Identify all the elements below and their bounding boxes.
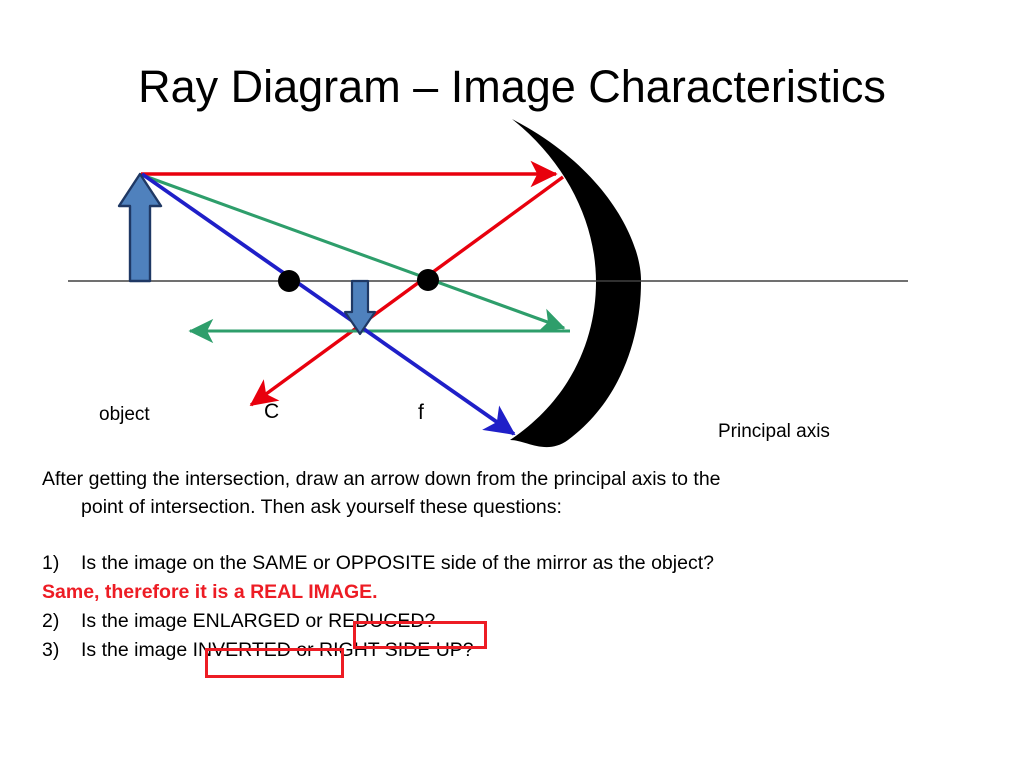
question-1-text: Is the image on the SAME or OPPOSITE sid… [81, 552, 714, 574]
page-title: Ray Diagram – Image Characteristics [0, 62, 1024, 112]
concave-mirror-shape [510, 119, 641, 447]
question-3: 3) Is the image INVERTED or RIGHT SIDE U… [42, 636, 942, 664]
ray-focal [142, 174, 514, 434]
intro-paragraph: After getting the intersection, draw an … [42, 466, 942, 521]
answer-real-image: Same, therefore it is a REAL IMAGE. [42, 579, 942, 607]
object-label: object [99, 404, 150, 426]
ray-diagram: object C f Principal axis [0, 110, 1024, 460]
object-arrow [119, 174, 161, 281]
text-spacer [42, 527, 942, 549]
question-1: 1) Is the image on the SAME or OPPOSITE … [42, 549, 942, 577]
question-2: 2) Is the image ENLARGED or REDUCED? [42, 607, 942, 635]
ray-diagram-svg [0, 110, 1024, 460]
focal-point-dot [417, 269, 439, 291]
question-3-number: 3) [42, 636, 72, 664]
question-2-text: Is the image ENLARGED or REDUCED? [81, 610, 435, 632]
question-1-number: 1) [42, 549, 72, 577]
image-arrow [345, 281, 375, 334]
slide-canvas: Ray Diagram – Image Characteristics [0, 0, 1024, 768]
principal-axis-label: Principal axis [718, 421, 830, 443]
intro-line-1: After getting the intersection, draw an … [42, 468, 721, 490]
question-3-text: Is the image INVERTED or RIGHT SIDE UP? [81, 639, 474, 661]
ray-parallel-reflected [251, 177, 563, 405]
intro-line-2: point of intersection. Then ask yourself… [42, 494, 942, 522]
body-text-block: After getting the intersection, draw an … [42, 466, 942, 664]
center-of-curvature-label: C [264, 400, 279, 424]
center-of-curvature-dot [278, 270, 300, 292]
focal-point-label: f [418, 401, 424, 425]
question-2-number: 2) [42, 607, 72, 635]
